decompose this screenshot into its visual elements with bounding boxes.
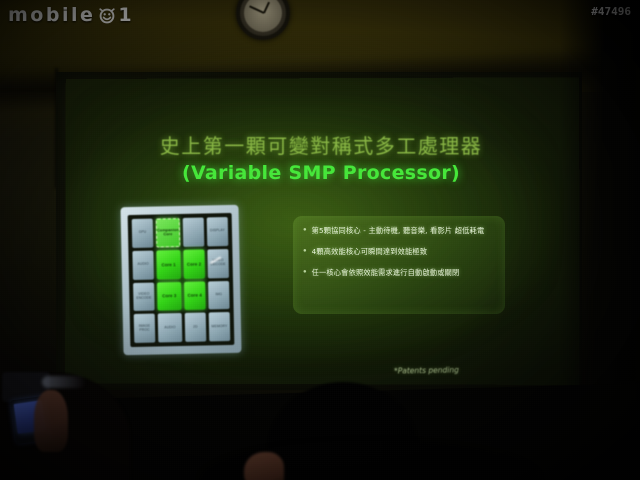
patents-pending-note: *Patents pending — [394, 365, 459, 375]
bullet-item: ● 第5顆協同核心 - 主動待機, 聽音樂, 看影片 超低耗電 — [303, 225, 495, 236]
hand-silhouette-left — [34, 390, 68, 452]
block-memory: MEMORY — [209, 312, 231, 341]
bullet-item: ● 4顆高效能核心可瞬間達到效能極致 — [303, 246, 495, 257]
block-display: DISPLAY — [207, 217, 229, 246]
bullet-text-2: 4顆高效能核心可瞬間達到效能極致 — [312, 246, 428, 257]
feature-bullet-panel: ● 第5顆協同核心 - 主動待機, 聽音樂, 看影片 超低耗電 ● 4顆高效能核… — [293, 216, 505, 314]
presentation-slide: 史上第一顆可變對稱式多工處理器 (Variable SMP Processor)… — [64, 78, 578, 384]
camera-highlight — [42, 376, 86, 388]
block-core-4: Core 4 — [184, 281, 206, 310]
slide-title-english: (Variable SMP Processor) — [64, 162, 578, 184]
processor-diagram: GPU Companion Core DISPLAY AUDIO Core 1 … — [120, 205, 241, 355]
block-core-2: Core 2 — [183, 249, 205, 278]
bullet-item: ● 任一核心會依照效能需求進行自動啟動或關閉 — [303, 267, 495, 278]
processor-block-grid: GPU Companion Core DISPLAY AUDIO Core 1 … — [132, 217, 231, 343]
block-audio-bottom: AUDIO — [158, 313, 182, 342]
bullet-text-1: 第5顆協同核心 - 主動待機, 聽音樂, 看影片 超低耗電 — [312, 225, 485, 236]
bullet-marker-icon: ● — [303, 225, 307, 236]
block-image-proc: IMAGE PROC — [134, 314, 156, 343]
block-core-3: Core 3 — [157, 282, 181, 311]
site-watermark: mobile 1 — [8, 4, 134, 26]
block-video-encode: VIDEO ENCODE — [133, 282, 155, 311]
block-audio-left: AUDIO — [132, 250, 154, 279]
post-id-label: #47496 — [591, 5, 631, 18]
bullet-text-3: 任一核心會依照效能需求進行自動啟動或關閉 — [312, 267, 460, 278]
block-img: IMG — [208, 280, 230, 309]
photo-canvas: 史上第一顆可變對稱式多工處理器 (Variable SMP Processor)… — [0, 0, 640, 480]
slide-title-chinese: 史上第一顆可變對稱式多工處理器 — [64, 130, 578, 159]
processor-die: GPU Companion Core DISPLAY AUDIO Core 1 … — [128, 213, 235, 347]
bullet-marker-icon: ● — [303, 246, 307, 257]
block-2d: 2D — [185, 313, 207, 342]
block-core-1: Core 1 — [156, 250, 180, 279]
block-empty-top — [183, 218, 205, 247]
block-gpu: GPU — [132, 219, 154, 248]
bullet-marker-icon: ● — [303, 267, 307, 278]
watermark-text-left: mobile — [8, 4, 95, 26]
devil-face-icon — [97, 5, 117, 25]
hand-silhouette-center — [244, 452, 284, 480]
block-companion-core: Companion Core — [156, 218, 180, 247]
watermark-text-right: 1 — [118, 4, 134, 26]
